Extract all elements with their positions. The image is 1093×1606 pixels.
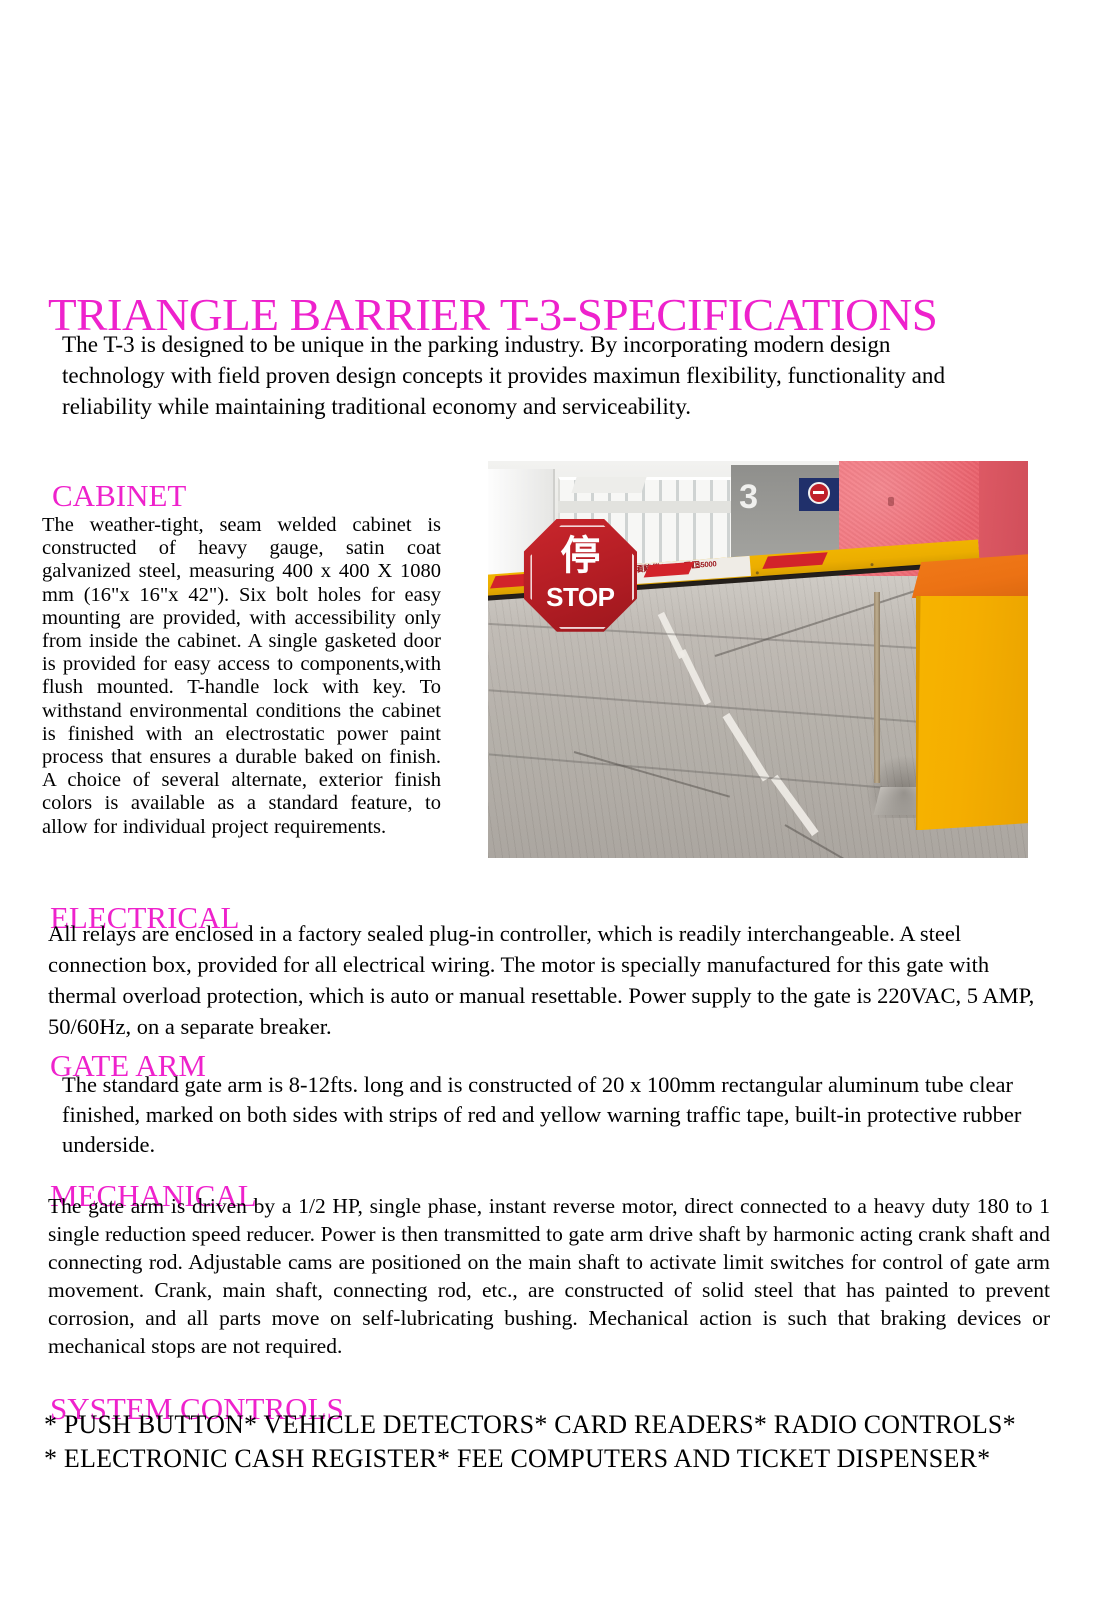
barrier-arm-bolt-2	[756, 571, 759, 574]
mechanical-paragraph: The gate arm is driven by a 1/2 HP, sing…	[48, 1192, 1050, 1360]
section-body-cabinet: The weather-tight, seam welded cabinet i…	[42, 514, 441, 839]
system-controls-list: * PUSH BUTTON* VEHICLE DETECTORS* CARD R…	[44, 1408, 1054, 1476]
section-heading-cabinet: CABINET	[52, 478, 186, 514]
stop-sign: 停 STOP	[524, 519, 637, 632]
stop-sign-chinese-text: 停	[524, 534, 637, 578]
no-entry-bar-icon	[813, 491, 824, 495]
section-body-mechanical: The gate arm is driven by a 1/2 HP, sing…	[48, 1192, 1050, 1360]
barrier-cabinet-body	[917, 596, 1028, 830]
photo-level-sign: 3	[739, 477, 782, 521]
barrier-arm-stripe-3	[762, 552, 827, 569]
document-page: TRIANGLE BARRIER T-3-SPECIFICATIONS The …	[0, 0, 1093, 1606]
barrier-gate-photo: 3	[488, 461, 1028, 858]
photo-awning	[572, 477, 647, 493]
system-controls-line-2: * ELECTRONIC CASH REGISTER* FEE COMPUTER…	[44, 1442, 1054, 1476]
photo-building-ledge	[558, 501, 742, 513]
barrier-arm-bolt-3	[870, 563, 873, 566]
gate-arm-paragraph: The standard gate arm is 8-12fts. long a…	[62, 1070, 1048, 1160]
stop-sign-english-text: STOP	[524, 582, 637, 612]
cabinet-paragraph: The weather-tight, seam welded cabinet i…	[42, 514, 441, 839]
electrical-paragraph: All relays are enclosed in a factory sea…	[48, 918, 1048, 1042]
section-body-gate-arm: The standard gate arm is 8-12fts. long a…	[62, 1070, 1048, 1160]
system-controls-line-1: * PUSH BUTTON* VEHICLE DETECTORS* CARD R…	[44, 1408, 1054, 1442]
photo-support-post	[874, 592, 880, 783]
intro-paragraph: The T-3 is designed to be unique in the …	[62, 330, 996, 423]
section-body-electrical: All relays are enclosed in a factory sea…	[48, 918, 1048, 1042]
photo-wall-mark	[888, 497, 894, 506]
